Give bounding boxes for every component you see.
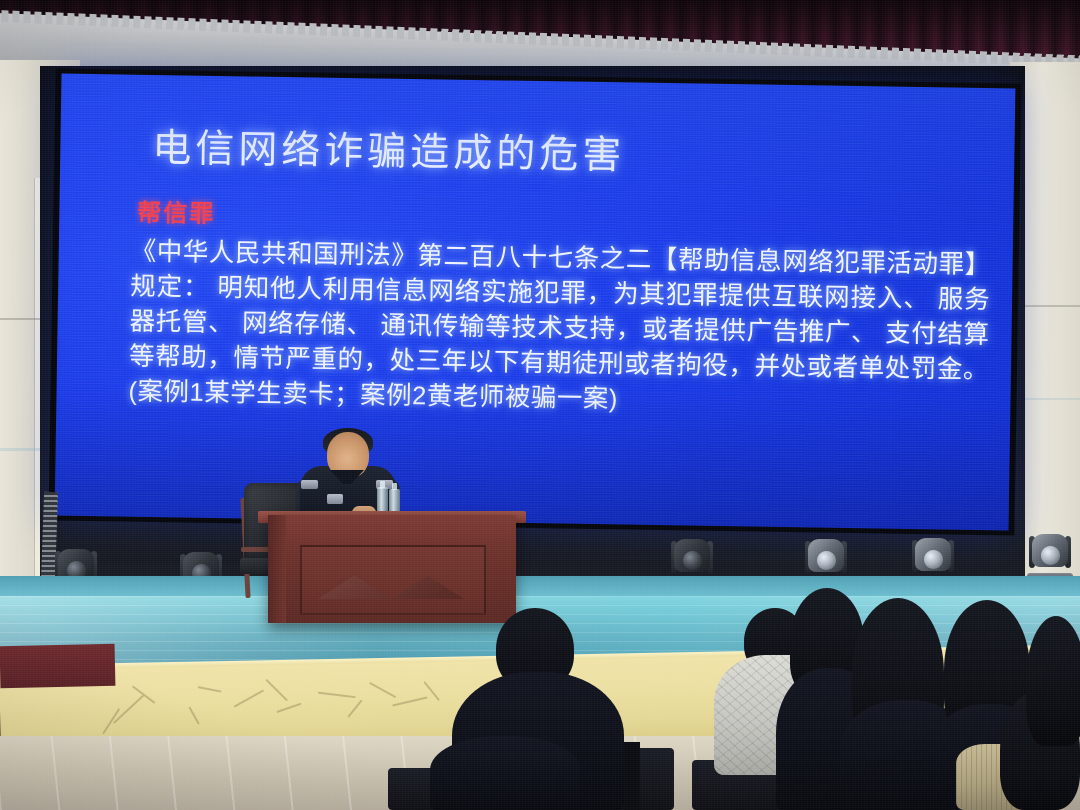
slide-body-text: 《中华人民共和国刑法》第二百八十七条之二【帮助信息网络犯罪活动罪】规定： 明知他… <box>128 235 991 423</box>
light-lens <box>817 551 836 570</box>
audience-person-body <box>430 736 580 810</box>
led-screen-frame: 电信网络诈骗造成的危害 帮信罪 《中华人民共和国刑法》第二百八十七条之二【帮助信… <box>49 68 1022 535</box>
led-screen: 电信网络诈骗造成的危害 帮信罪 《中华人民共和国刑法》第二百八十七条之二【帮助信… <box>55 74 1016 531</box>
light-head <box>1032 534 1068 567</box>
audience-person <box>1026 616 1080 746</box>
light-head <box>915 538 951 571</box>
podium-side-panel <box>268 515 286 623</box>
podium-front-panel <box>300 545 486 615</box>
light-head <box>808 539 844 572</box>
slide-subtitle: 帮信罪 <box>137 193 216 229</box>
slide-title: 电信网络诈骗造成的危害 <box>152 117 626 180</box>
uniform-badge <box>327 494 343 504</box>
light-head <box>674 539 710 572</box>
seat-gap <box>624 742 640 810</box>
light-lens <box>924 550 943 569</box>
presentation-slide: 电信网络诈骗造成的危害 帮信罪 《中华人民共和国刑法》第二百八十七条之二【帮助信… <box>55 74 1016 531</box>
uniform-epaulette <box>301 480 318 489</box>
light-lens <box>683 551 702 570</box>
auditorium-photo: 电信网络诈骗造成的危害 帮信罪 《中华人民共和国刑法》第二百八十七条之二【帮助信… <box>0 0 1080 810</box>
light-lens <box>1041 546 1060 565</box>
